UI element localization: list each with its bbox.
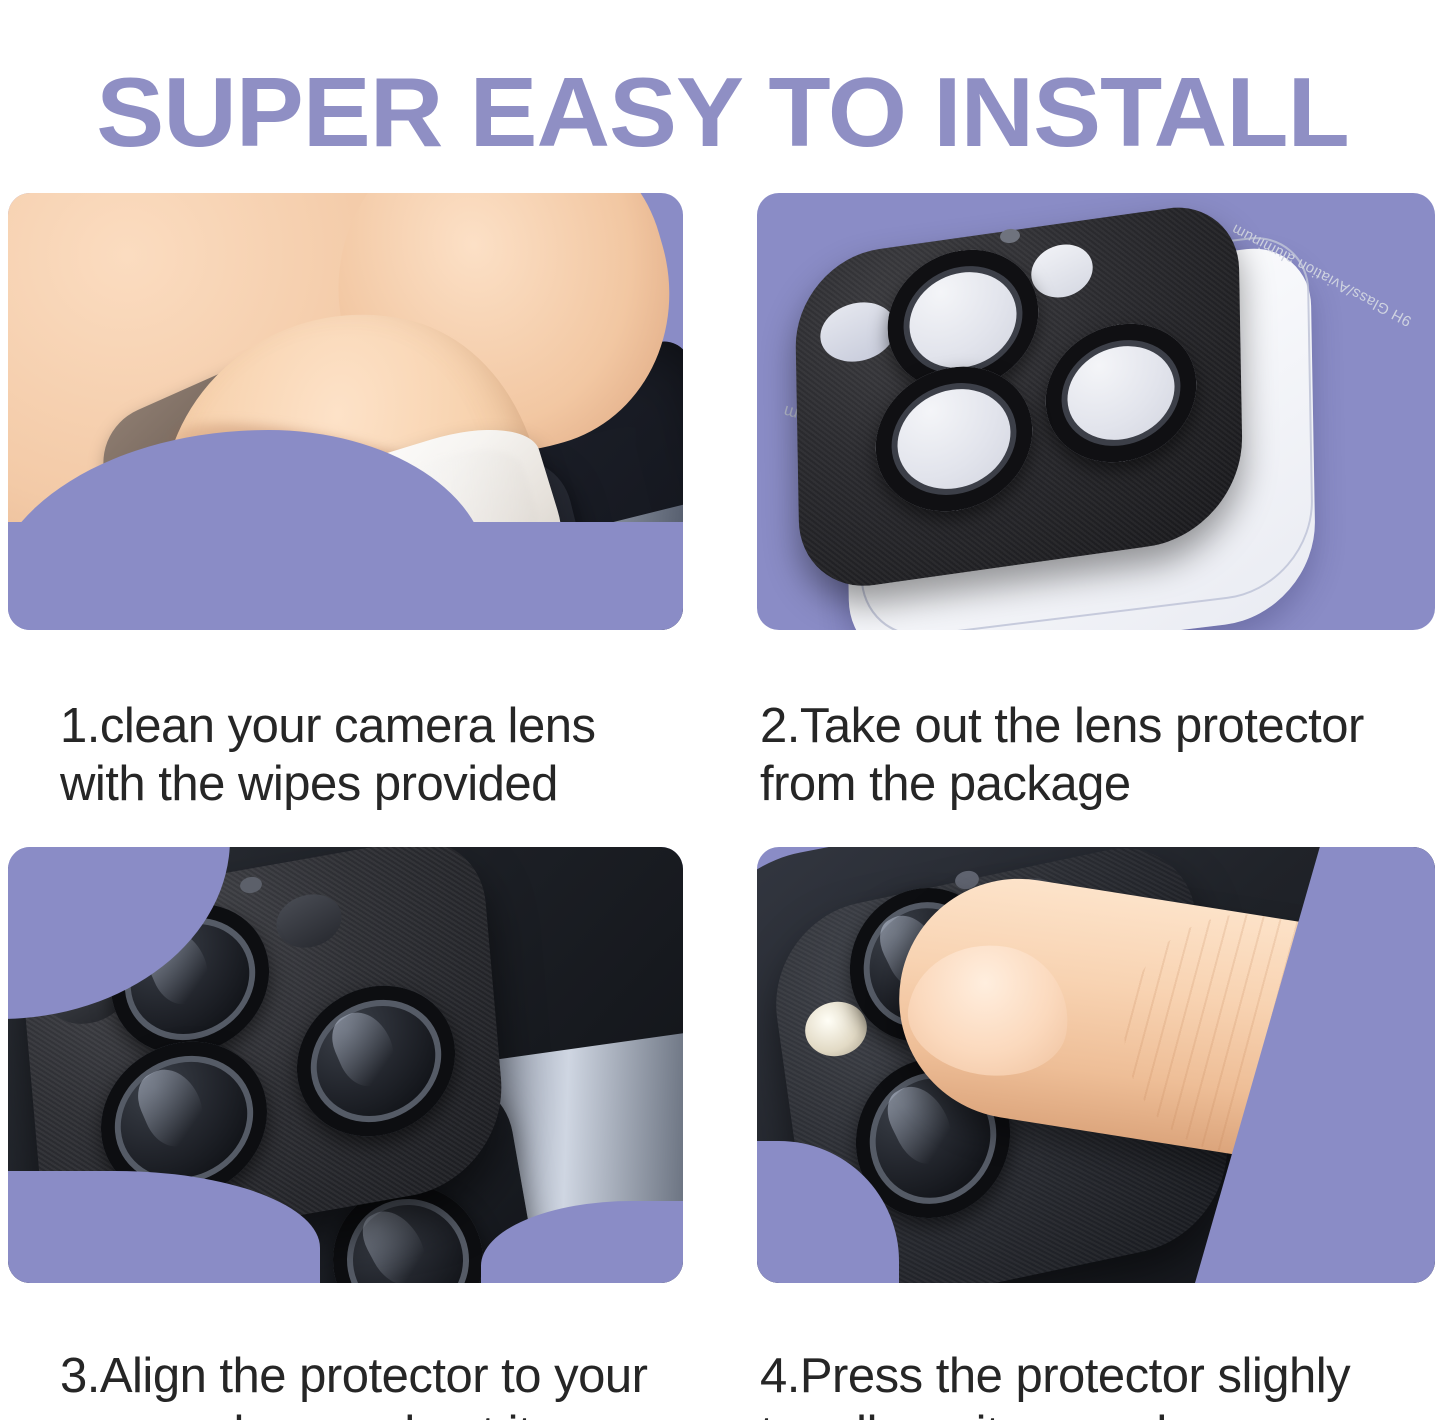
step-1-caption: 1.clean your camera lens with the wipes … [60,697,720,813]
step-2-caption: 2.Take out the lens protector from the p… [760,697,1445,813]
scene-align-protector [8,847,683,1283]
page-title: SUPER EASY TO INSTALL [0,58,1445,166]
step-4-image-panel [757,847,1435,1283]
install-instructions-infographic: SUPER EASY TO INSTALL 1.clean your camer… [0,0,1445,1420]
step-2-image-panel: 9H Glass/Aviation aluminum 9H Glass/Avia… [757,193,1435,630]
purple-backdrop-strip [8,522,683,630]
step-3-caption: 3.Align the protector to your camera len… [60,1347,750,1420]
step-3-image-panel [8,847,683,1283]
step-1-image-panel [8,193,683,630]
scene-clean-lens [8,193,683,630]
scene-take-out-protector: 9H Glass/Aviation aluminum 9H Glass/Avia… [757,193,1435,630]
step-4-caption: 4.Press the protector slighly to adhere … [760,1347,1445,1420]
scene-press-protector [757,847,1435,1283]
